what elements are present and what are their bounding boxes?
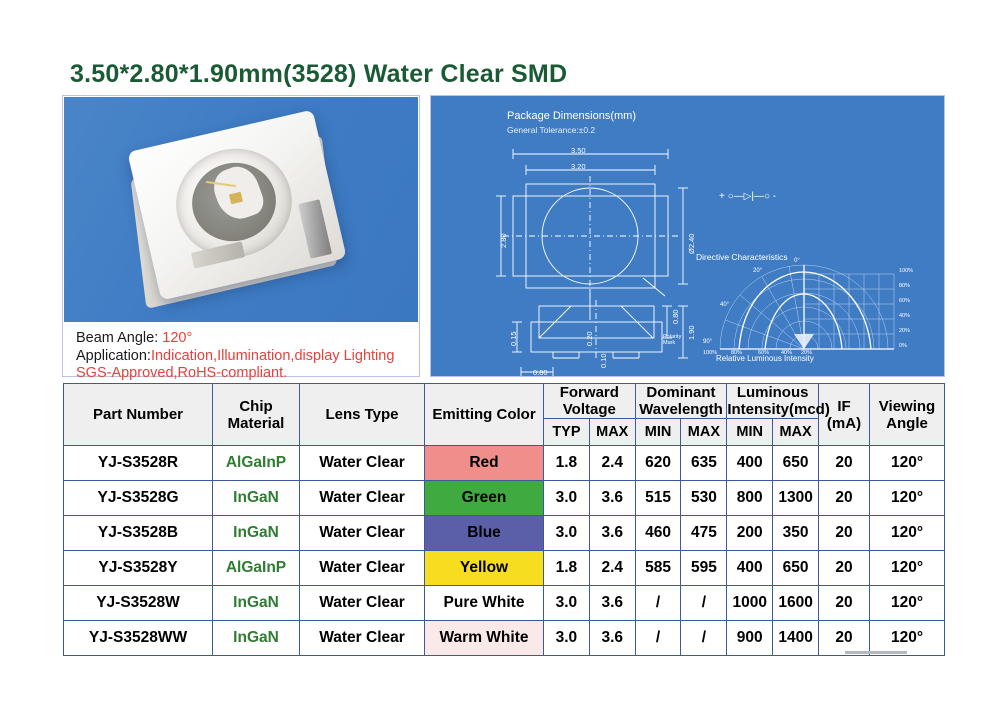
led-product-photo bbox=[64, 97, 418, 322]
application-label: Application: bbox=[76, 348, 151, 364]
bottom-divider-line bbox=[845, 651, 907, 654]
cell-viewing-angle: 120° bbox=[870, 516, 945, 551]
cell-lens-type: Water Clear bbox=[300, 446, 425, 481]
cell-lum-max: 650 bbox=[773, 551, 819, 586]
cell-wl-min: 515 bbox=[635, 481, 681, 516]
table-body: YJ-S3528RAlGaInPWater ClearRed1.82.46206… bbox=[64, 446, 945, 656]
cell-chip-material: AlGaInP bbox=[213, 551, 300, 586]
polar-angle-0: 0° bbox=[794, 258, 800, 264]
cell-chip-material: InGaN bbox=[213, 621, 300, 656]
beam-angle-value: 120° bbox=[162, 330, 192, 346]
table-row: YJ-S3528WInGaNWater ClearPure White3.03.… bbox=[64, 586, 945, 621]
cell-lens-type: Water Clear bbox=[300, 551, 425, 586]
cell-lum-max: 350 bbox=[773, 516, 819, 551]
polarity-circuit-symbol: + ○—▷|—○ - bbox=[719, 191, 776, 202]
polar-pct-100: 100% bbox=[899, 268, 913, 274]
product-photo-panel: Beam Angle: 120° Application:Indication,… bbox=[62, 95, 420, 377]
cell-chip-material: InGaN bbox=[213, 586, 300, 621]
cell-if-typ: 20 bbox=[819, 586, 870, 621]
cell-vf-typ: 3.0 bbox=[544, 621, 590, 656]
polar-angle-40: 40° bbox=[720, 302, 729, 308]
cell-lens-type: Water Clear bbox=[300, 516, 425, 551]
cell-part-number: YJ-S3528R bbox=[64, 446, 213, 481]
subheader-lum-min: MIN bbox=[727, 419, 773, 446]
dim-standoff: 0.15 bbox=[509, 331, 518, 346]
cell-wl-max: / bbox=[681, 586, 727, 621]
polar-chart-title: Directive Characteristics bbox=[696, 252, 788, 262]
table-row: YJ-S3528GInGaNWater ClearGreen3.03.65155… bbox=[64, 481, 945, 516]
cell-vf-max: 3.6 bbox=[589, 621, 635, 656]
table-row: YJ-S3528RAlGaInPWater ClearRed1.82.46206… bbox=[64, 446, 945, 481]
led-specification-table: Part Number Chip Material Lens Type Emit… bbox=[63, 383, 945, 656]
cell-part-number: YJ-S3528B bbox=[64, 516, 213, 551]
header-if-ma: IF (mA) bbox=[819, 384, 870, 446]
subheader-lum-max: MAX bbox=[773, 419, 819, 446]
cell-wl-max: 530 bbox=[681, 481, 727, 516]
cell-vf-max: 2.4 bbox=[589, 446, 635, 481]
header-luminous-intensity: Luminous Intensity(mcd) bbox=[727, 384, 819, 419]
table-row: YJ-S3528YAlGaInPWater ClearYellow1.82.45… bbox=[64, 551, 945, 586]
subheader-vf-max: MAX bbox=[589, 419, 635, 446]
cell-lens-type: Water Clear bbox=[300, 481, 425, 516]
cell-chip-material: InGaN bbox=[213, 481, 300, 516]
cell-if-typ: 20 bbox=[819, 516, 870, 551]
cell-wl-max: 475 bbox=[681, 516, 727, 551]
cell-part-number: YJ-S3528Y bbox=[64, 551, 213, 586]
header-lens-type: Lens Type bbox=[300, 384, 425, 446]
cell-part-number: YJ-S3528WW bbox=[64, 621, 213, 656]
cell-lum-max: 1400 bbox=[773, 621, 819, 656]
cell-if-typ: 20 bbox=[819, 481, 870, 516]
subheader-wl-max: MAX bbox=[681, 419, 727, 446]
subheader-vf-typ: TYP bbox=[544, 419, 590, 446]
polar-pct-40: 40% bbox=[899, 313, 910, 319]
table-head: Part Number Chip Material Lens Type Emit… bbox=[64, 384, 945, 446]
dim-width-inner: 3.20 bbox=[571, 162, 586, 171]
polar-left-pct-100: 100% bbox=[703, 350, 717, 356]
dim-width-outer: 3.50 bbox=[571, 146, 586, 155]
dim-height-outer: 2.80 bbox=[499, 233, 508, 248]
dim-pad-thickness: 0.10 bbox=[599, 353, 608, 368]
cell-part-number: YJ-S3528W bbox=[64, 586, 213, 621]
header-viewing-angle: Viewing Angle bbox=[870, 384, 945, 446]
cell-viewing-angle: 120° bbox=[870, 551, 945, 586]
cell-emitting-color: Blue bbox=[425, 516, 544, 551]
cell-wl-min: 460 bbox=[635, 516, 681, 551]
cell-vf-max: 3.6 bbox=[589, 516, 635, 551]
table-row: YJ-S3528WWInGaNWater ClearWarm White3.03… bbox=[64, 621, 945, 656]
subheader-wl-min: MIN bbox=[635, 419, 681, 446]
cell-vf-typ: 1.8 bbox=[544, 446, 590, 481]
dim-total-height: 1.90 bbox=[687, 325, 696, 340]
page-title: 3.50*2.80*1.90mm(3528) Water Clear SMD bbox=[70, 60, 567, 89]
cell-lum-max: 1600 bbox=[773, 586, 819, 621]
cell-vf-max: 3.6 bbox=[589, 481, 635, 516]
header-emitting-color: Emitting Color bbox=[425, 384, 544, 446]
cell-viewing-angle: 120° bbox=[870, 586, 945, 621]
dim-pad-width: 0.80 bbox=[533, 368, 548, 377]
cell-vf-typ: 3.0 bbox=[544, 481, 590, 516]
polar-pct-80: 80% bbox=[899, 283, 910, 289]
cell-wl-max: 595 bbox=[681, 551, 727, 586]
cell-lum-min: 200 bbox=[727, 516, 773, 551]
cell-lum-min: 1000 bbox=[727, 586, 773, 621]
cell-viewing-angle: 120° bbox=[870, 446, 945, 481]
cell-wl-min: 620 bbox=[635, 446, 681, 481]
cell-chip-material: AlGaInP bbox=[213, 446, 300, 481]
polar-angle-20: 20° bbox=[753, 268, 762, 274]
header-forward-voltage: Forward Voltage bbox=[544, 384, 636, 419]
cell-if-typ: 20 bbox=[819, 446, 870, 481]
cell-vf-max: 3.6 bbox=[589, 586, 635, 621]
header-part-number: Part Number bbox=[64, 384, 213, 446]
cell-emitting-color: Warm White bbox=[425, 621, 544, 656]
photo-caption-block: Beam Angle: 120° Application:Indication,… bbox=[64, 323, 418, 375]
polar-pct-60: 60% bbox=[899, 298, 910, 304]
cell-wl-max: 635 bbox=[681, 446, 727, 481]
polar-chart-footer: Relative Luminous Intensity bbox=[716, 354, 814, 363]
dim-lens-diameter: Ø2.40 bbox=[687, 234, 696, 254]
cell-vf-typ: 3.0 bbox=[544, 586, 590, 621]
cell-wl-min: / bbox=[635, 621, 681, 656]
application-value: Indication,Illumination,display Lighting bbox=[151, 348, 394, 364]
cell-wl-max: / bbox=[681, 621, 727, 656]
beam-angle-line: Beam Angle: 120° bbox=[76, 330, 418, 348]
diagram-subtitle: General Tolerance:±0.2 bbox=[507, 125, 595, 135]
cell-part-number: YJ-S3528G bbox=[64, 481, 213, 516]
cell-vf-typ: 1.8 bbox=[544, 551, 590, 586]
cell-lum-min: 800 bbox=[727, 481, 773, 516]
compliance-line: SGS-Approved,RoHS-compliant. bbox=[76, 365, 418, 383]
polar-pct-20: 20% bbox=[899, 328, 910, 334]
cell-wl-min: 585 bbox=[635, 551, 681, 586]
table-row: YJ-S3528BInGaNWater ClearBlue3.03.646047… bbox=[64, 516, 945, 551]
cell-emitting-color: Green bbox=[425, 481, 544, 516]
cell-lens-type: Water Clear bbox=[300, 621, 425, 656]
header-dominant-wavelength: Dominant Wavelength bbox=[635, 384, 727, 419]
cell-viewing-angle: 120° bbox=[870, 481, 945, 516]
cell-wl-min: / bbox=[635, 586, 681, 621]
beam-angle-label: Beam Angle: bbox=[76, 330, 162, 346]
table-header-row-main: Part Number Chip Material Lens Type Emit… bbox=[64, 384, 945, 419]
cell-vf-typ: 3.0 bbox=[544, 516, 590, 551]
cell-lum-min: 900 bbox=[727, 621, 773, 656]
package-dimensions-panel: Package Dimensions(mm) General Tolerance… bbox=[430, 95, 945, 377]
polar-pct-0: 0% bbox=[899, 343, 907, 349]
cell-if-typ: 20 bbox=[819, 551, 870, 586]
cell-vf-max: 2.4 bbox=[589, 551, 635, 586]
dim-body-height: 0.80 bbox=[671, 309, 680, 324]
cell-lens-type: Water Clear bbox=[300, 586, 425, 621]
cell-chip-material: InGaN bbox=[213, 516, 300, 551]
header-chip-material: Chip Material bbox=[213, 384, 300, 446]
cell-lum-min: 400 bbox=[727, 446, 773, 481]
cell-emitting-color: Yellow bbox=[425, 551, 544, 586]
diagram-title: Package Dimensions(mm) bbox=[507, 110, 636, 122]
polar-angle-90: 90° bbox=[703, 339, 712, 345]
cell-emitting-color: Red bbox=[425, 446, 544, 481]
cell-lum-min: 400 bbox=[727, 551, 773, 586]
application-line: Application:Indication,Illumination,disp… bbox=[76, 348, 418, 366]
cell-lum-max: 650 bbox=[773, 446, 819, 481]
cell-emitting-color: Pure White bbox=[425, 586, 544, 621]
cell-lum-max: 1300 bbox=[773, 481, 819, 516]
